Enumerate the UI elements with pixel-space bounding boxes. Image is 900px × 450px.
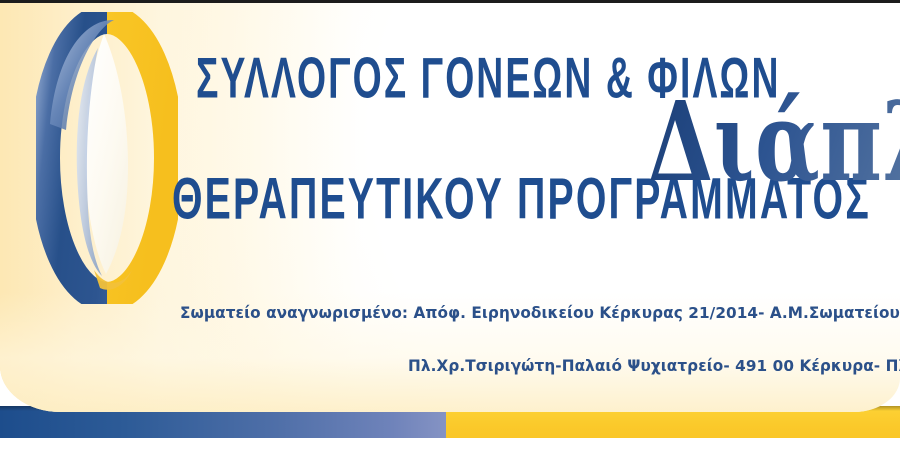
top-rule-divider [0,0,900,3]
diaplous-ellipse-logo-icon [36,12,178,304]
footer-baseline-fade [0,438,900,450]
registration-info-line: Σωματείο αναγνωρισμένο: Απόφ. Ειρηνοδικε… [180,304,900,322]
organization-header-banner: ΣΥΛΛΟΓΟΣ ΓΟΝΕΩΝ & ΦΙΛΩΝ ΘΕΡΑΠΕΥΤΙΚΟΥ ΠΡΟ… [0,0,900,450]
address-contact-line: Πλ.Χρ.Τσιριγώτη-Παλαιό Ψυχιατρείο- 491 0… [408,357,900,375]
diaplous-wordmark: Διάπλους [648,88,900,198]
